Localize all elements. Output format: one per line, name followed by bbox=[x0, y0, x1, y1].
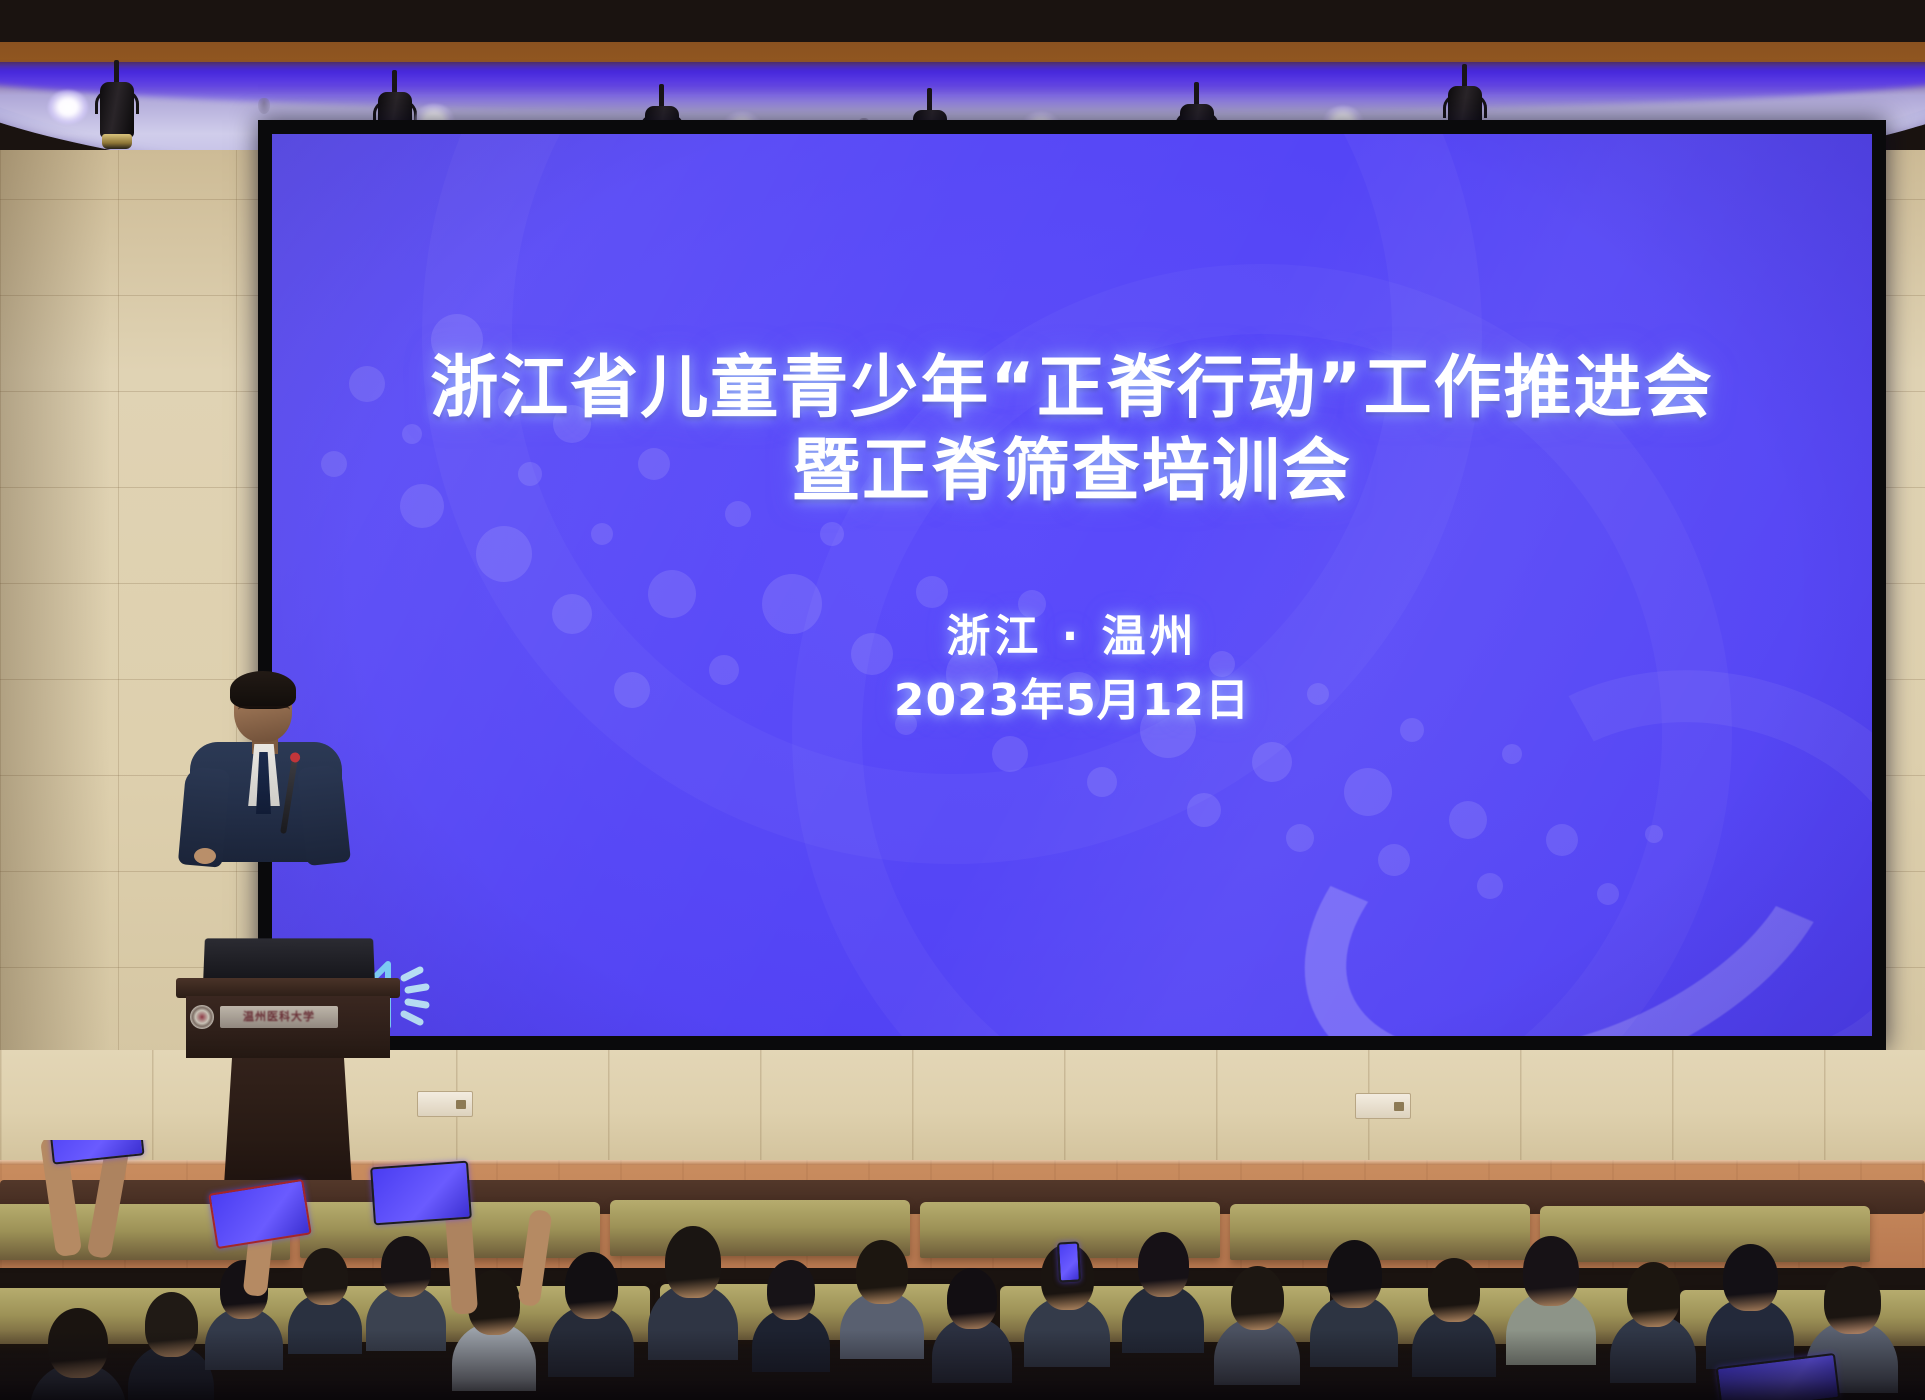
glasses-icon bbox=[238, 706, 290, 717]
bubble bbox=[1252, 742, 1292, 782]
slide-subtitle: 浙江 · 温州 2023年5月12日 bbox=[272, 608, 1872, 730]
bubble bbox=[1187, 793, 1221, 827]
phone-camera[interactable] bbox=[370, 1161, 472, 1226]
audience-person bbox=[366, 1236, 446, 1342]
podium-nameplate: 温州医科大学 bbox=[220, 1006, 338, 1028]
audience-foreground-shadow bbox=[0, 1330, 1925, 1400]
university-crest-icon bbox=[190, 1005, 214, 1029]
bubble bbox=[1087, 767, 1117, 797]
person-head bbox=[1723, 1244, 1778, 1311]
ceiling-sprinkler-icon bbox=[258, 98, 270, 114]
audience-person bbox=[1122, 1232, 1204, 1344]
slide-title-line1: 浙江省儿童青少年“正脊行动”工作推进会 bbox=[430, 349, 1713, 428]
slide-date: 2023年5月12日 bbox=[272, 672, 1872, 730]
bubble bbox=[591, 523, 613, 545]
bubble bbox=[476, 526, 532, 582]
phone-screen[interactable] bbox=[1057, 1241, 1081, 1282]
slide-title: 浙江省儿童青少年“正脊行动”工作推进会 暨正脊筛查培训会 bbox=[272, 348, 1872, 514]
phone-camera[interactable] bbox=[47, 1140, 144, 1165]
person-head bbox=[565, 1252, 618, 1319]
person-head bbox=[1824, 1266, 1881, 1334]
slide-title-line2: 暨正脊筛查培训会 bbox=[272, 431, 1872, 514]
ceiling-downlight bbox=[48, 90, 88, 124]
podium-laptop bbox=[203, 938, 375, 982]
slide-location: 浙江 · 温州 bbox=[946, 611, 1197, 662]
person-head bbox=[1523, 1236, 1579, 1306]
person-head bbox=[1627, 1262, 1680, 1327]
person-head bbox=[1327, 1240, 1382, 1308]
wall-outlet bbox=[1355, 1093, 1411, 1119]
person-head bbox=[1231, 1266, 1284, 1330]
bubble bbox=[1344, 768, 1392, 816]
right-wall bbox=[1882, 150, 1925, 1160]
bubble bbox=[1286, 824, 1314, 852]
presentation-screen[interactable]: 浙江省儿童青少年“正脊行动”工作推进会 暨正脊筛查培训会 浙江 · 温州 202… bbox=[272, 134, 1872, 1036]
person-head bbox=[302, 1248, 348, 1305]
bubble bbox=[992, 736, 1028, 772]
person-head bbox=[856, 1240, 908, 1304]
stage-light-fixture bbox=[100, 60, 134, 156]
podium: 温州医科大学 bbox=[158, 830, 418, 1190]
person-head bbox=[767, 1260, 815, 1320]
bubble bbox=[820, 522, 844, 546]
bubble bbox=[916, 576, 948, 608]
podium-nameplate-text: 温州医科大学 bbox=[220, 1006, 338, 1028]
left-wall-shadow bbox=[0, 150, 110, 1160]
wall-outlet bbox=[417, 1091, 473, 1117]
person-head bbox=[947, 1268, 997, 1329]
person-head bbox=[1428, 1258, 1480, 1322]
person-head bbox=[381, 1236, 431, 1297]
audience-area bbox=[0, 1140, 1925, 1400]
person-head bbox=[1138, 1232, 1189, 1297]
auditorium-scene: 浙江省儿童青少年“正脊行动”工作推进会 暨正脊筛查培训会 浙江 · 温州 202… bbox=[0, 0, 1925, 1400]
person-head bbox=[665, 1226, 721, 1298]
